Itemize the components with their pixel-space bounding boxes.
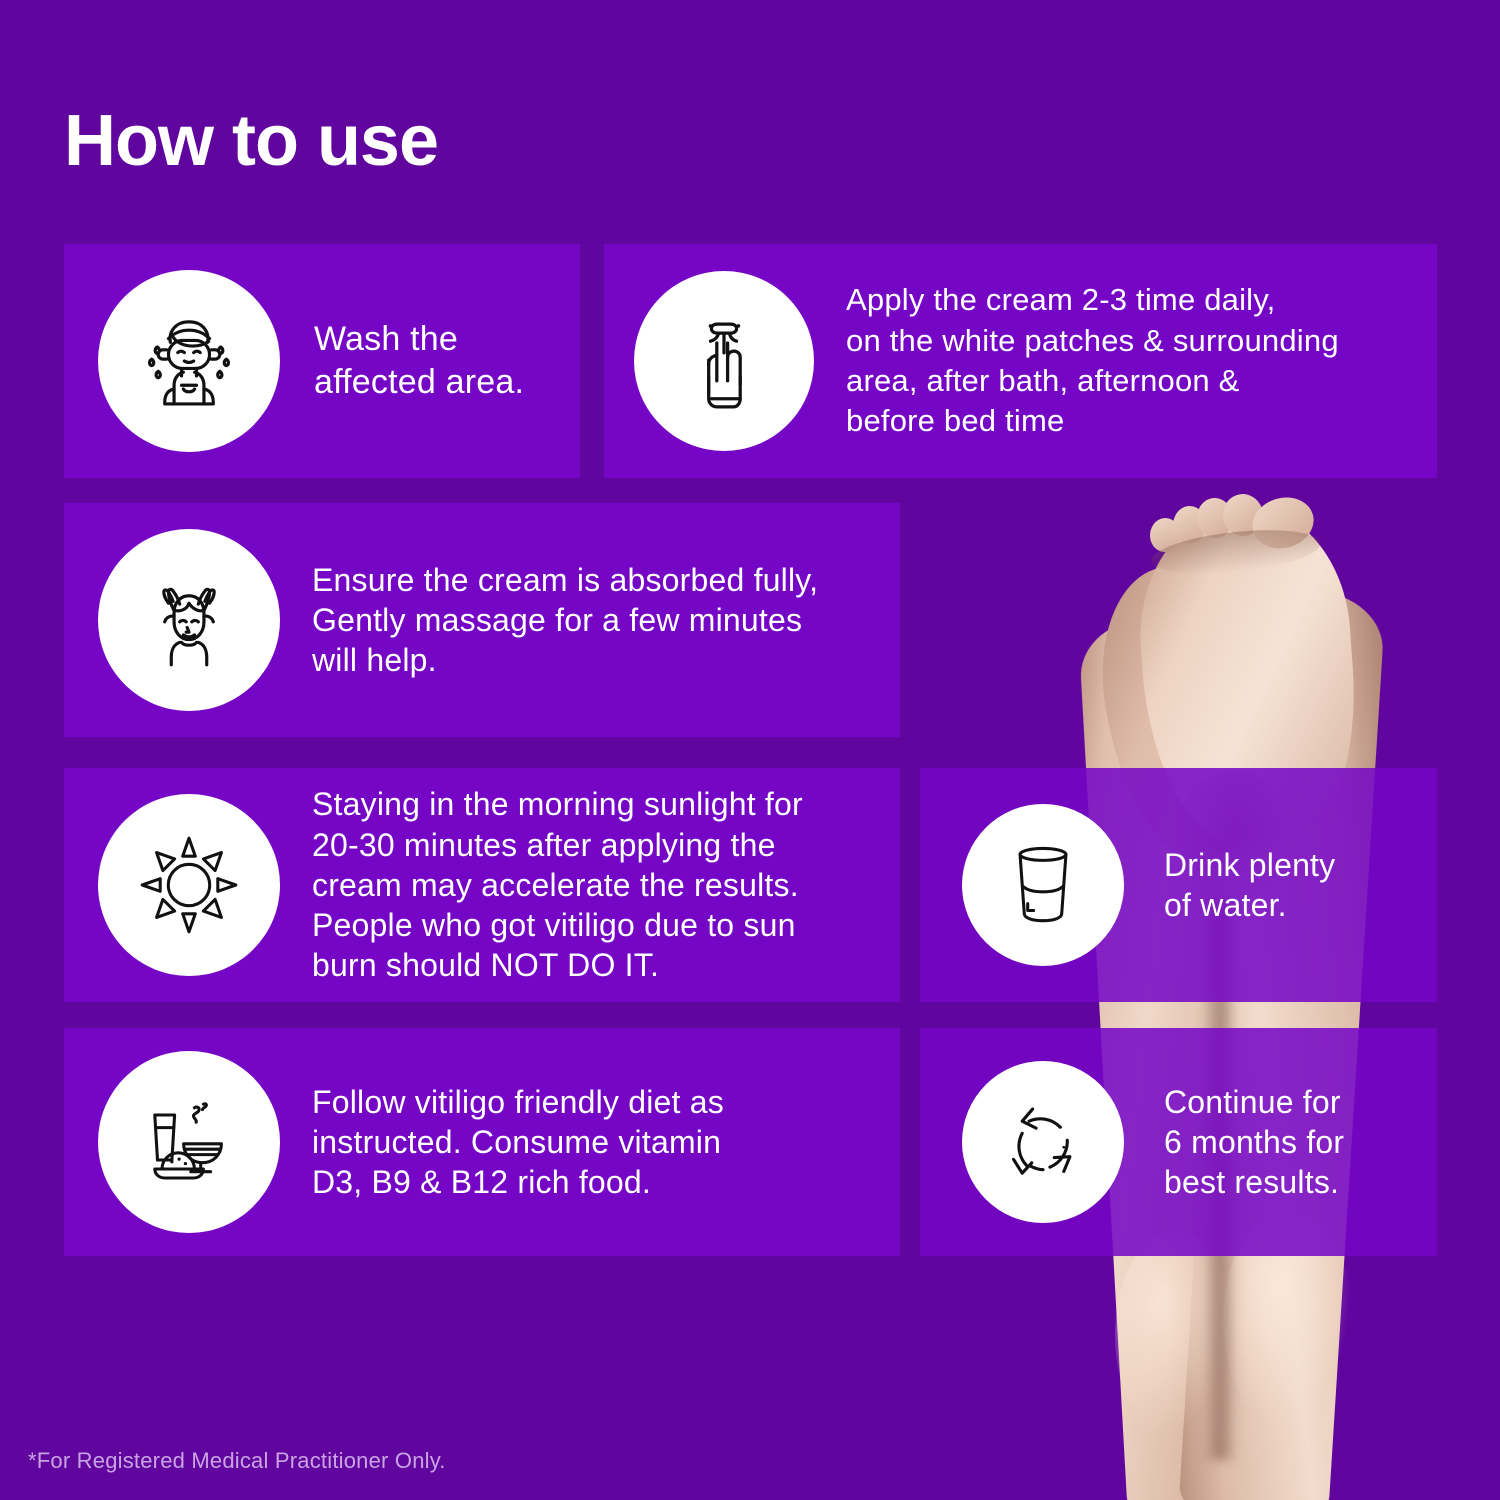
step-card-apply: Apply the cream 2-3 time daily, on the w… [604, 244, 1437, 478]
sun-icon [98, 794, 280, 976]
step-card-water: Drink plenty of water. [920, 768, 1437, 1002]
how-to-use-infographic: How to use [0, 0, 1500, 1500]
step-text-absorb: Ensure the cream is absorbed fully, Gent… [312, 560, 818, 681]
food-plate-glass-icon [98, 1051, 280, 1233]
page-title: How to use [64, 105, 438, 177]
step-card-wash: Wash the affected area. [64, 244, 580, 478]
step-text-continue: Continue for 6 months for best results. [1164, 1082, 1344, 1203]
footnote-disclaimer: *For Registered Medical Practitioner Onl… [28, 1448, 446, 1474]
step-text-sunlight: Staying in the morning sunlight for 20-3… [312, 784, 803, 986]
head-massage-icon [98, 529, 280, 711]
fingers-applying-cream-icon [634, 271, 814, 451]
step-text-wash: Wash the affected area. [314, 318, 524, 404]
step-text-diet: Follow vitiligo friendly diet as instruc… [312, 1082, 724, 1203]
water-glass-icon [962, 804, 1124, 966]
step-card-diet: Follow vitiligo friendly diet as instruc… [64, 1028, 900, 1256]
step-text-apply: Apply the cream 2-3 time daily, on the w… [846, 280, 1339, 441]
step-card-absorb: Ensure the cream is absorbed fully, Gent… [64, 503, 900, 737]
step-card-continue: Continue for 6 months for best results. [920, 1028, 1437, 1256]
cycle-arrows-icon [962, 1061, 1124, 1223]
step-text-water: Drink plenty of water. [1164, 845, 1335, 926]
face-wash-icon [98, 270, 280, 452]
step-card-sunlight: Staying in the morning sunlight for 20-3… [64, 768, 900, 1002]
